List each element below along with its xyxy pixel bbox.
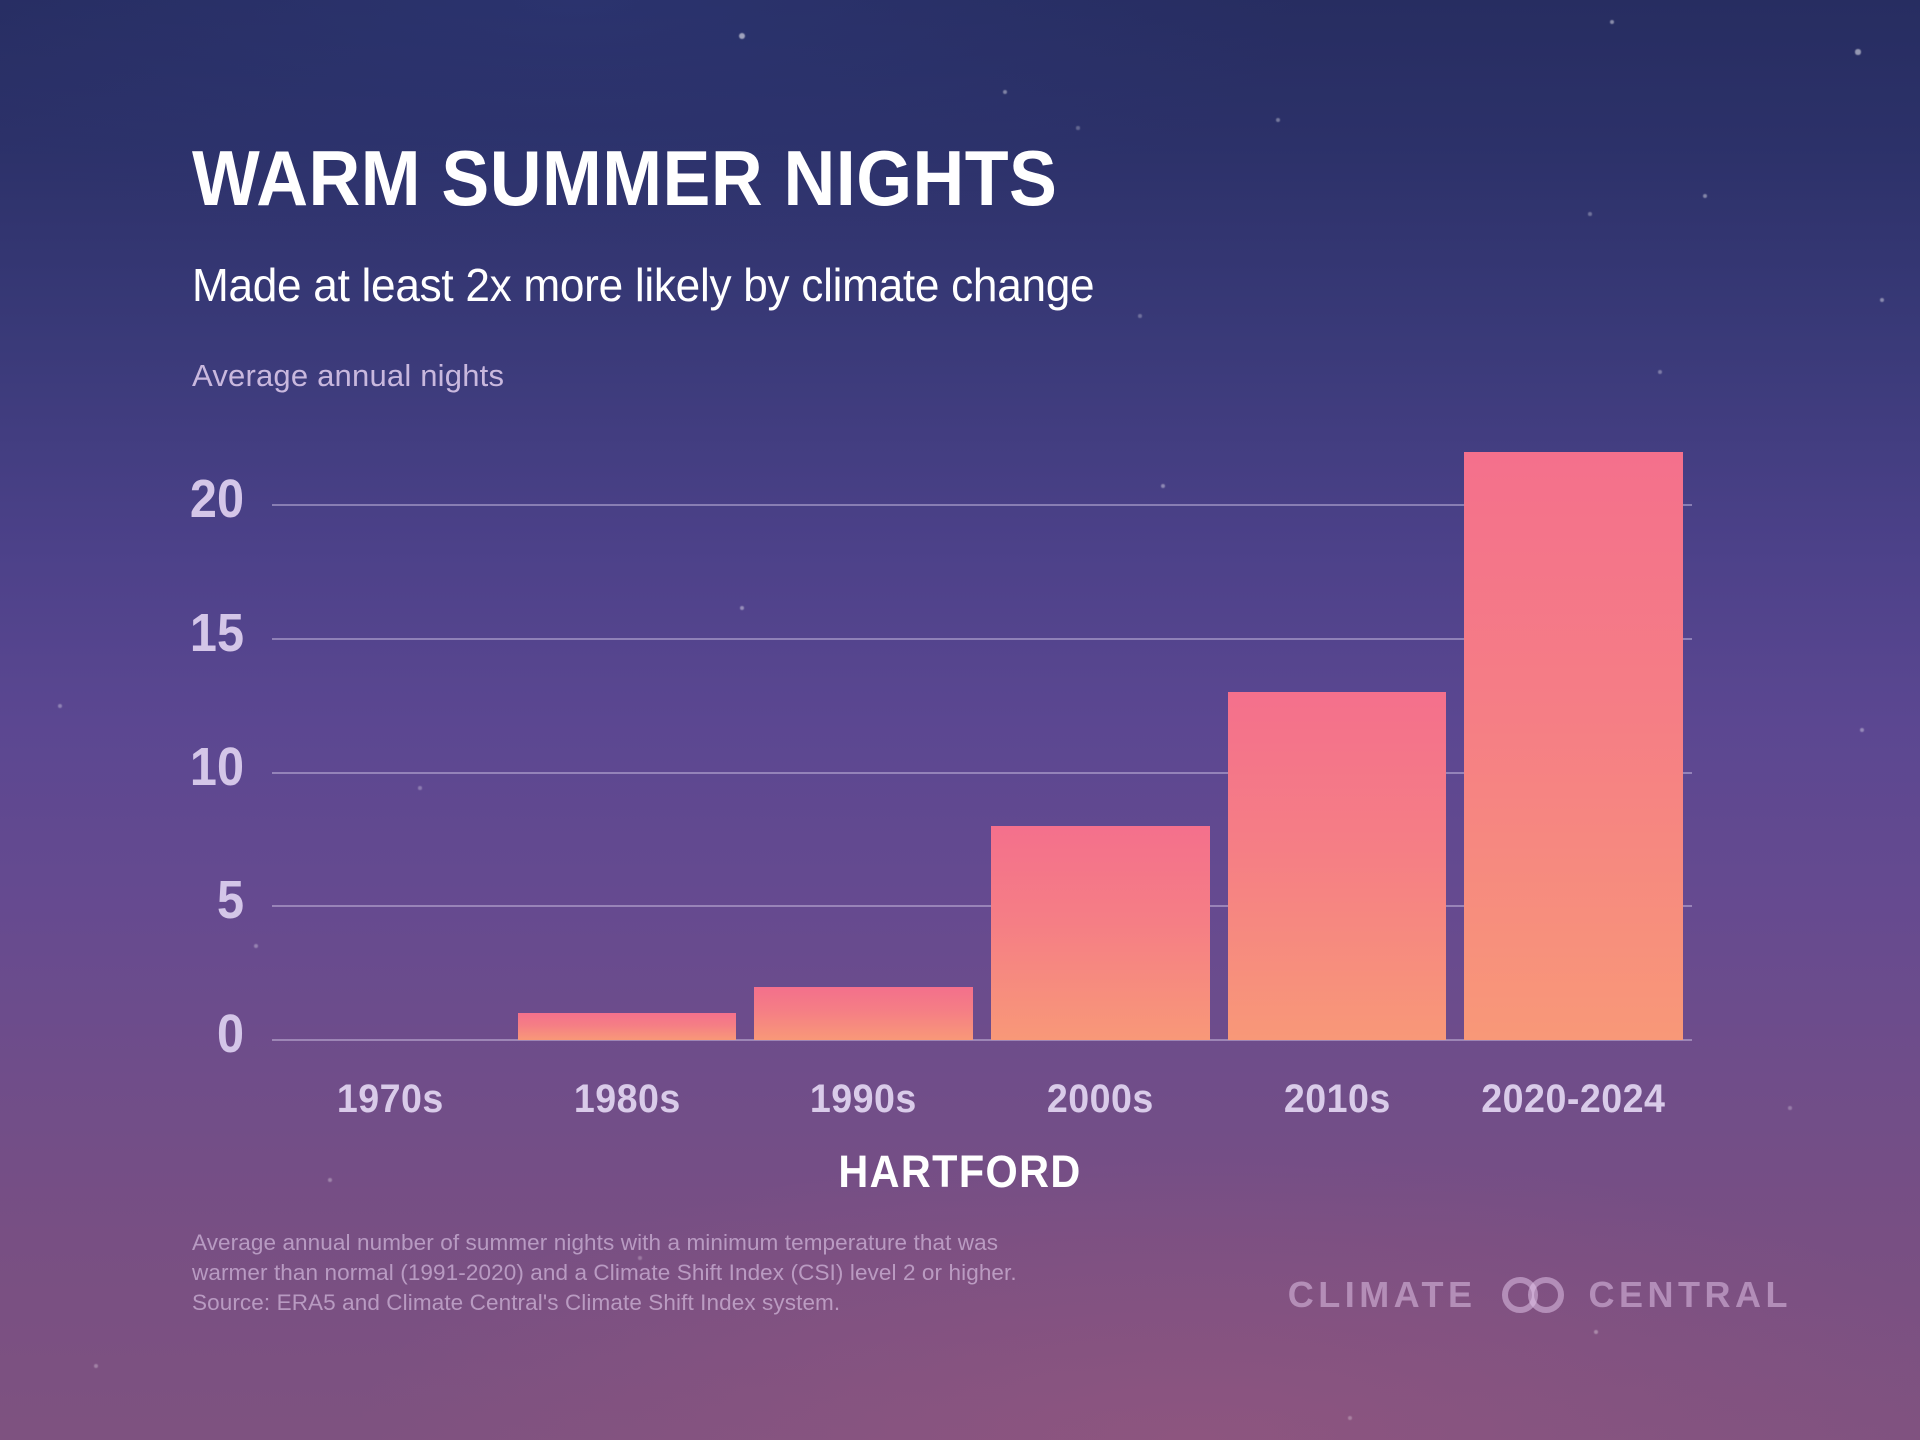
bar-chart: 051015201970s1980s1990s2000s2010s2020-20…: [0, 0, 1920, 1440]
bar: [1464, 452, 1683, 1040]
location-label: HARTFORD: [77, 1146, 1843, 1198]
y-axis-tick-label: 10: [44, 736, 244, 798]
y-axis-tick-label: 20: [44, 468, 244, 530]
bar: [518, 1013, 737, 1040]
infographic-canvas: WARM SUMMER NIGHTS Made at least 2x more…: [0, 0, 1920, 1440]
footnote-line-1: Average annual number of summer nights w…: [192, 1228, 1062, 1258]
logo-word-climate: CLIMATE: [1288, 1274, 1477, 1316]
interlocking-rings-icon: [1494, 1276, 1572, 1314]
logo-word-central: CENTRAL: [1589, 1274, 1792, 1316]
y-axis-tick-label: 5: [44, 869, 244, 931]
bar: [754, 987, 973, 1040]
bar: [991, 826, 1210, 1040]
footnote-line-3: Source: ERA5 and Climate Central's Clima…: [192, 1288, 1062, 1318]
climate-central-logo: CLIMATE CENTRAL: [1288, 1274, 1792, 1316]
y-axis-tick-label: 0: [44, 1003, 244, 1065]
y-axis-tick-label: 15: [44, 602, 244, 664]
footnote-line-2: warmer than normal (1991-2020) and a Cli…: [192, 1258, 1062, 1288]
chart-footnote: Average annual number of summer nights w…: [192, 1228, 1062, 1318]
bar: [1228, 692, 1447, 1040]
x-axis-tick-label: 2020-2024: [1434, 1077, 1713, 1122]
